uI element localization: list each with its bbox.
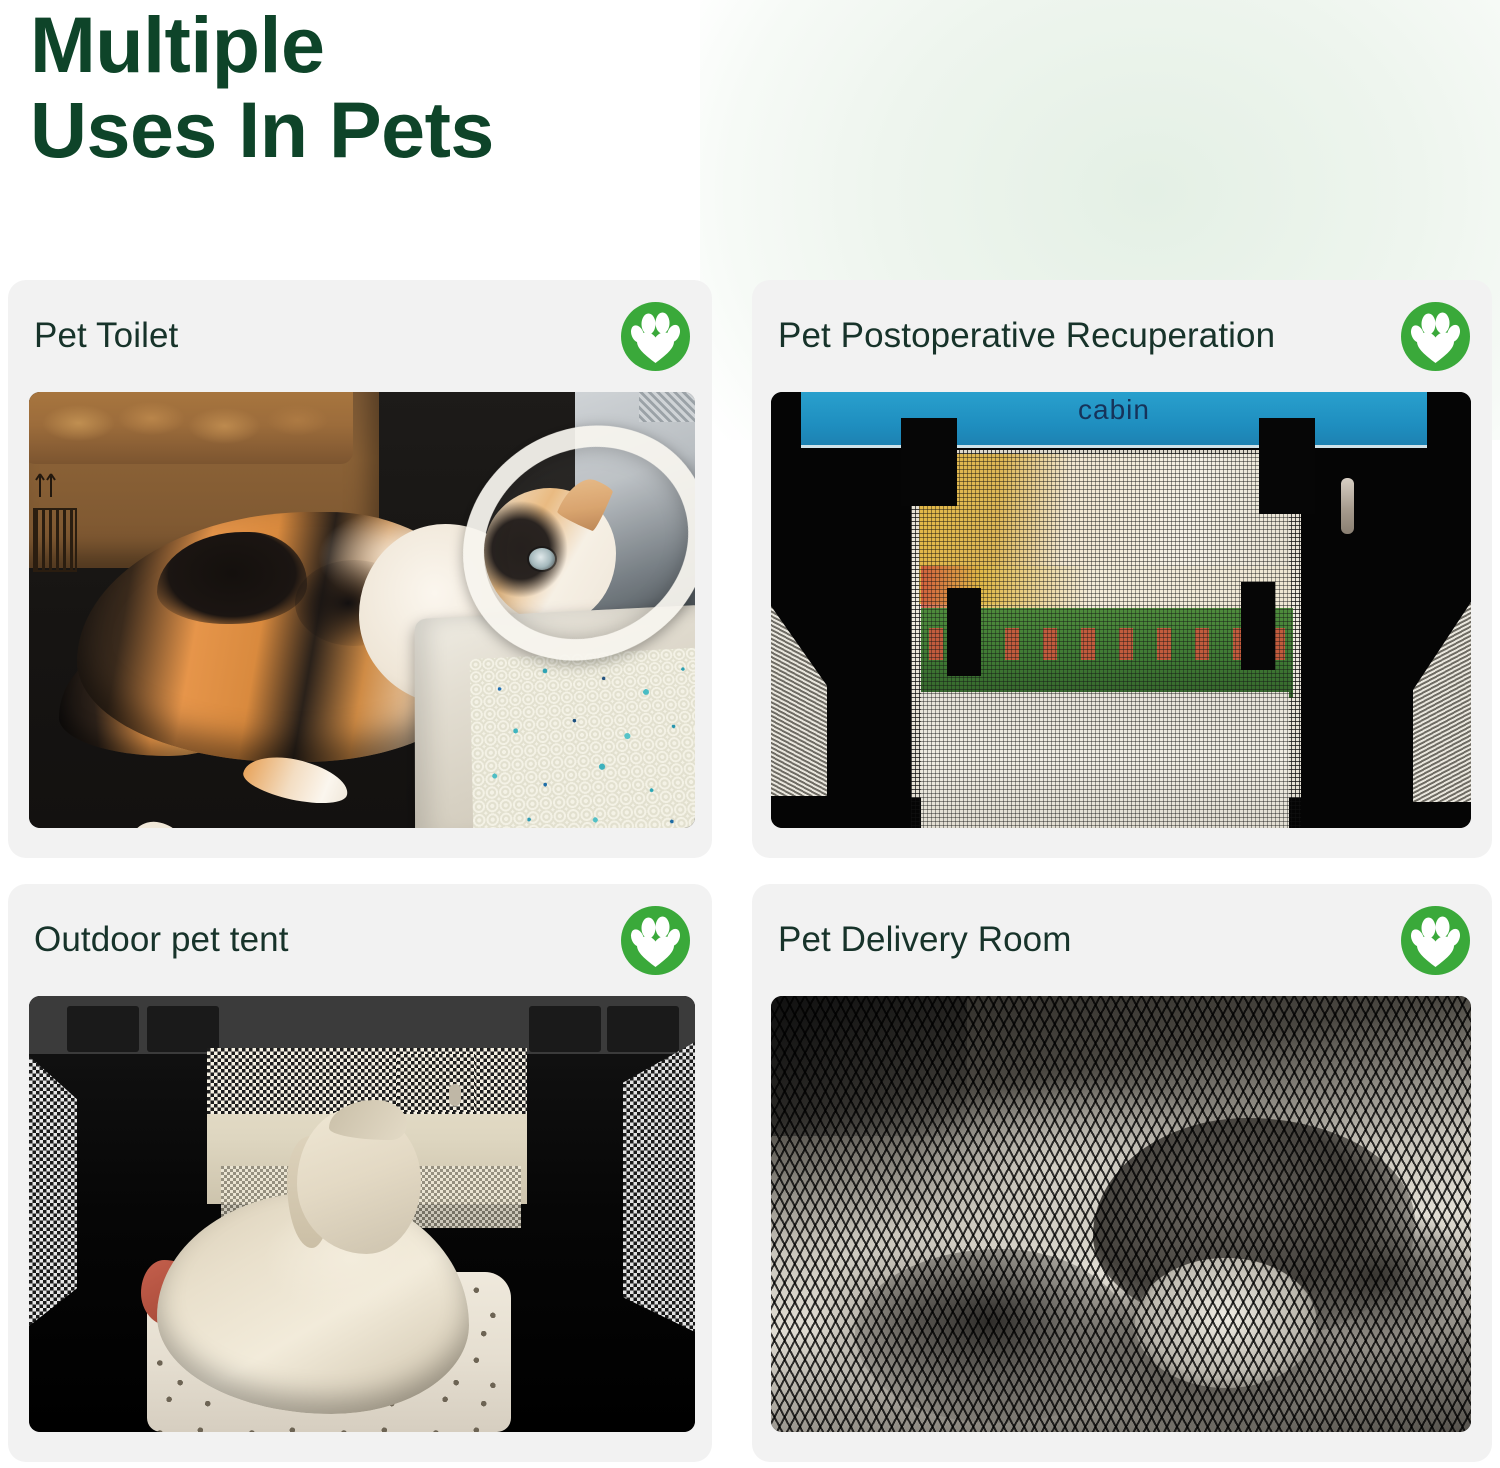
page-title: Multiple Uses In Pets (30, 2, 860, 173)
feature-card-pet-delivery-room: Pet Delivery Room (752, 884, 1492, 1462)
card-header: Pet Postoperative Recuperation (778, 300, 1470, 372)
card-header: Outdoor pet tent (34, 904, 690, 976)
card-title: Pet Delivery Room (778, 920, 1071, 960)
carrier-brand-text: cabin (801, 394, 1427, 426)
feature-card-outdoor-pet-tent: Outdoor pet tent (8, 884, 712, 1462)
card-header: Pet Toilet (34, 300, 690, 372)
paw-print-icon (1401, 302, 1470, 371)
mesh-pet-carrier-bedding-photo: cabin (771, 392, 1471, 828)
feature-card-pet-postoperative-recuperation: Pet Postoperative Recuperation cabin (752, 280, 1492, 858)
product-feature-banner: Multiple Uses In Pets Pet Toilet (0, 0, 1500, 1468)
paw-print-icon (621, 302, 690, 371)
feature-card-pet-toilet: Pet Toilet (8, 280, 712, 858)
paw-print-icon (621, 906, 690, 975)
card-title: Outdoor pet tent (34, 920, 289, 960)
dog-in-black-pet-tent-photo (29, 996, 695, 1432)
card-title: Pet Toilet (34, 316, 178, 356)
paw-print-icon (1401, 906, 1470, 975)
card-title: Pet Postoperative Recuperation (778, 316, 1275, 356)
calico-cat-cone-litter-box-photo (29, 392, 695, 828)
cat-and-kittens-behind-mesh-photo (771, 996, 1471, 1432)
card-header: Pet Delivery Room (778, 904, 1470, 976)
